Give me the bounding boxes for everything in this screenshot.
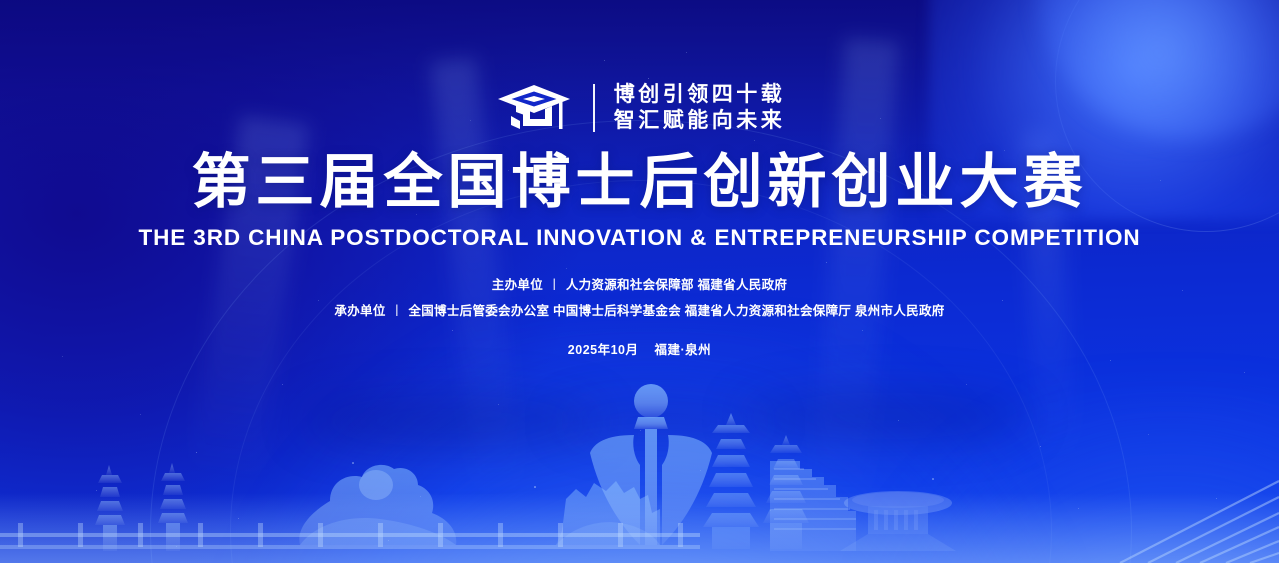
slogan-line-1: 博创引领四十载 <box>614 82 786 108</box>
city-skyline <box>0 373 1279 563</box>
organizer-separator: 丨 <box>391 304 404 318</box>
star-dot <box>1110 360 1111 361</box>
twin-pagoda-east <box>703 413 759 549</box>
emblem-slogan: 博创引领四十载 智汇赋能向未来 <box>614 82 786 133</box>
organizer-value: 全国博士后管委会办公室 中国博士后科学基金会 福建省人力资源和社会保障厅 泉州市… <box>408 304 944 318</box>
emblem-divider <box>593 84 595 132</box>
slogan-line-2: 智汇赋能向未来 <box>614 108 786 134</box>
poster-content: 博创引领四十载 智汇赋能向未来 第三届全国博士后创新创业大赛 THE 3RD C… <box>0 0 1279 358</box>
event-date-location: 2025年10月福建·泉州 <box>0 339 1279 358</box>
organizer-value: 人力资源和社会保障部 福建省人民政府 <box>566 278 787 292</box>
organizer-row: 主办单位丨人力资源和社会保障部 福建省人民政府 <box>0 273 1279 299</box>
organizer-block: 主办单位丨人力资源和社会保障部 福建省人民政府 承办单位丨全国博士后管委会办公室… <box>0 273 1279 324</box>
stadium-pavilion <box>840 491 956 551</box>
organizer-separator: 丨 <box>548 278 561 292</box>
cable-stay-bridge <box>1120 481 1279 563</box>
organizer-row: 承办单位丨全国博士后管委会办公室 中国博士后科学基金会 福建省人力资源和社会保障… <box>0 299 1279 325</box>
organizer-label: 主办单位 <box>492 278 543 292</box>
event-date: 2025年10月 <box>568 343 639 357</box>
organizer-label: 承办单位 <box>334 304 385 318</box>
page-title: 第三届全国博士后创新创业大赛 <box>0 153 1279 212</box>
emblem-row: 博创引领四十载 智汇赋能向未来 <box>0 80 1279 136</box>
poster-canvas: 博创引领四十载 智汇赋能向未来 第三届全国博士后创新创业大赛 THE 3RD C… <box>0 0 1279 563</box>
page-subtitle-en: THE 3RD CHINA POSTDOCTORAL INNOVATION & … <box>0 225 1279 251</box>
graduation-cap-icon <box>494 82 574 134</box>
event-location: 福建·泉州 <box>655 343 712 357</box>
pagoda-small-left <box>95 465 125 551</box>
pagoda-small-mid <box>158 463 188 551</box>
